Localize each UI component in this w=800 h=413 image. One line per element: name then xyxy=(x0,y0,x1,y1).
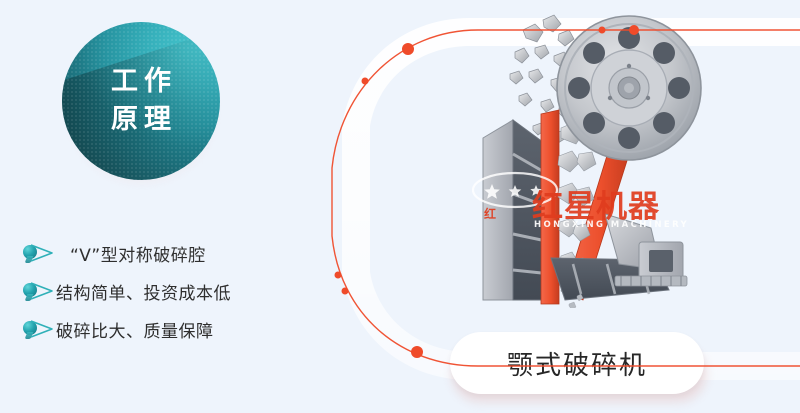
badge-line-1: 工作 xyxy=(105,63,177,101)
jaw-crusher-illustration xyxy=(455,8,705,308)
list-item: “V”型对称破碎腔 xyxy=(22,234,322,272)
badge-line-2: 原理 xyxy=(105,101,177,139)
list-item: 破碎比大、质量保障 xyxy=(22,310,322,348)
arrow-bullet-icon xyxy=(22,242,56,264)
work-principle-badge: 工作 原理 xyxy=(62,22,222,182)
list-item: 结构简单、投资成本低 xyxy=(22,272,322,310)
feature-list: “V”型对称破碎腔 结构简单、投资成本低 破碎比大、质量保障 xyxy=(22,234,322,348)
product-label: 颚式破碎机 xyxy=(507,345,647,382)
infographic-canvas: 工作 原理 “V”型对称破碎腔 结构简单、投资成本低 xyxy=(0,0,800,413)
badge-text: 工作 原理 xyxy=(62,22,220,180)
feature-label: “V”型对称破碎腔 xyxy=(56,241,206,266)
product-pill: 颚式破碎机 xyxy=(450,332,704,394)
flywheel-icon xyxy=(557,16,701,160)
feature-label: 结构简单、投资成本低 xyxy=(56,279,231,304)
arrow-bullet-icon xyxy=(22,280,56,302)
arrow-bullet-icon xyxy=(22,318,56,340)
feature-label: 破碎比大、质量保障 xyxy=(56,317,214,342)
